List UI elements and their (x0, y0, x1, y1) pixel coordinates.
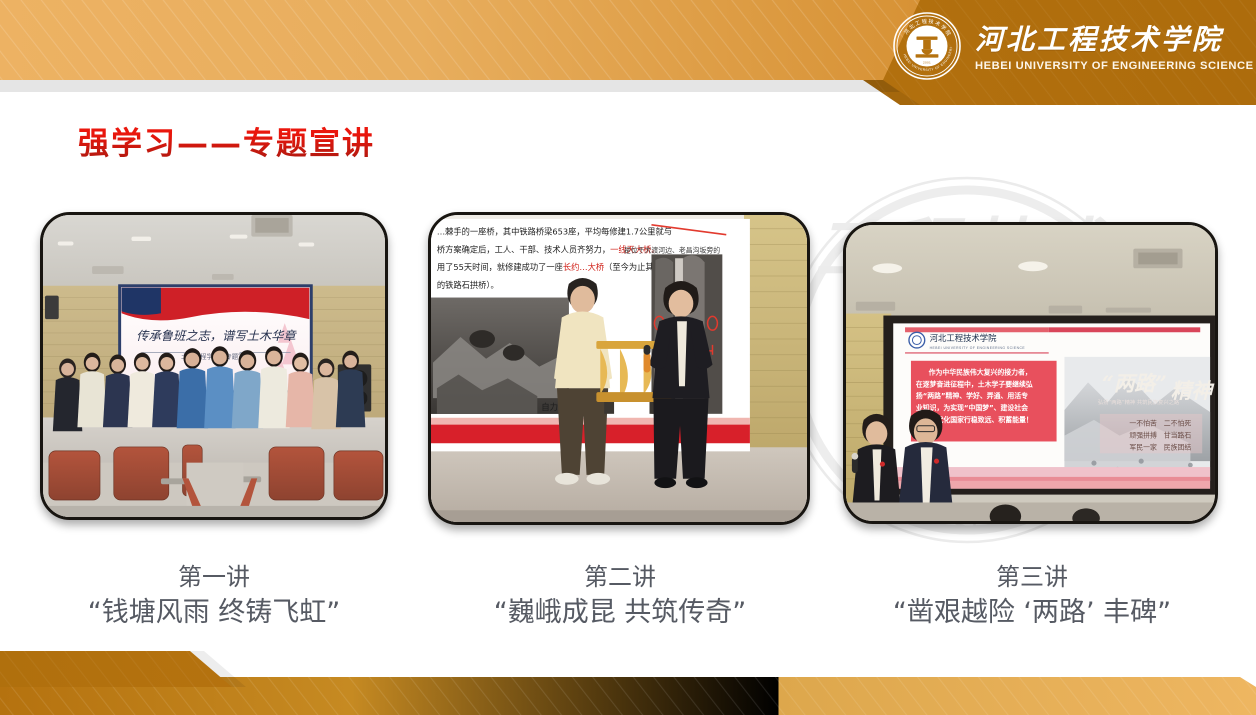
university-logo: 河北工程技术学院 HEBEI UNIVERSITY OF ENGINEERING… (893, 12, 1254, 80)
svg-text:军民一家 民族团结: 军民一家 民族团结 (1129, 442, 1191, 451)
svg-text:2001: 2001 (923, 60, 931, 64)
university-name-cn: 河北工程技术学院 (975, 22, 1254, 57)
svg-text:在逐梦奋进征程中，土木学子要继续弘: 在逐梦奋进征程中，土木学子要继续弘 (916, 379, 1033, 388)
svg-text:业知识，为实现“中国梦”、建设社会: 业知识，为实现“中国梦”、建设社会 (916, 403, 1028, 412)
caption-3-line1: 第三讲 (832, 562, 1232, 593)
photo-card-3[interactable]: 河北工程技术学院 HEBEI UNIVERSITY OF ENGINEERING… (843, 222, 1218, 524)
two-speakers-liangle-slide-photo: 河北工程技术学院 HEBEI UNIVERSITY OF ENGINEERING… (846, 225, 1215, 522)
svg-text:作为中华民族伟大复兴的接力者，: 作为中华民族伟大复兴的接力者， (929, 368, 1032, 377)
slide-heading-cn: 河北工程技术学院 (930, 333, 998, 343)
photo-card-2[interactable]: …棘手的一座桥，其中铁路桥梁653座，平均每修建1.7公里就与 桥方案确定后，工… (428, 212, 810, 525)
svg-text:是位于大渡河边、老昌沟坂旁的: 是位于大渡河边、老昌沟坂旁的 (624, 245, 720, 254)
screen-line-3: 用了55天时间，就修建成功了一座长约…大桥（至今为止其区跨 (437, 262, 671, 272)
caption-card-2: 第二讲 “巍峨成昆 共筑传奇” (425, 562, 815, 630)
screen-slogan-text: 传承鲁班之志，谱写土木华章 (136, 329, 297, 343)
svg-text:HEBEI UNIVERSITY OF ENGINEERIN: HEBEI UNIVERSITY OF ENGINEERING SCIENCE (930, 346, 1026, 350)
caption-3-line2: “凿艰越险 ‘两路’ 丰碑” (832, 595, 1232, 630)
caption-1-line2: “钱塘风雨 终铸飞虹” (24, 595, 404, 630)
svg-text:一不怕苦 二不怕死: 一不怕苦 二不怕死 (1129, 419, 1191, 428)
caption-2-line2: “巍峨成昆 共筑传奇” (425, 595, 815, 630)
photo-card-1[interactable]: 传承鲁班之志，谱写土木华章 土木工程学院 · 专题宣讲 (40, 212, 388, 520)
caption-card-1: 第一讲 “钱塘风雨 终铸飞虹” (24, 562, 404, 630)
caption-card-3: 第三讲 “凿艰越险 ‘两路’ 丰碑” (832, 562, 1232, 630)
screen-line-1: …棘手的一座桥，其中铁路桥梁653座，平均每修建1.7公里就与 (437, 227, 672, 237)
photo-frame-2: …棘手的一座桥，其中铁路桥梁653座，平均每修建1.7公里就与 桥方案确定后，工… (428, 212, 810, 525)
svg-text:扬“两路”精神、学好、弄通、用活专: 扬“两路”精神、学好、弄通、用活专 (916, 391, 1028, 400)
caption-2-line1: 第二讲 (425, 562, 815, 593)
university-name-en: HEBEI UNIVERSITY OF ENGINEERING SCIENCE (975, 60, 1254, 72)
slide-side-title: “两路” (1102, 371, 1167, 395)
photo-frame-3: 河北工程技术学院 HEBEI UNIVERSITY OF ENGINEERING… (843, 222, 1218, 524)
slide-title: 强学习——专题宣讲 (78, 118, 375, 163)
caption-1-line1: 第一讲 (24, 562, 404, 593)
screen-line-4: 的铁路石拱桥）。 (437, 280, 499, 290)
group-photo-auditorium: 传承鲁班之志，谱写土木华章 土木工程学院 · 专题宣讲 (43, 215, 385, 518)
presentation-slide: 工程技术 UNIVERSITY OF ENGINEERING (0, 0, 1256, 715)
two-speakers-bridge-slide-photo: …棘手的一座桥，其中铁路桥梁653座，平均每修建1.7公里就与 桥方案确定后，工… (431, 215, 807, 523)
svg-text:顽强拼搏 甘当路石: 顽强拼搏 甘当路石 (1129, 431, 1191, 440)
university-seal-icon: 河北工程技术学院 HEBEI UNIVERSITY OF ENGINEERING… (893, 12, 961, 80)
photo-frame-1: 传承鲁班之志，谱写土木华章 土木工程学院 · 专题宣讲 (40, 212, 388, 520)
svg-text:弘扬“两路”精神 共筑民族复兴之路: 弘扬“两路”精神 共筑民族复兴之路 (1098, 398, 1180, 406)
